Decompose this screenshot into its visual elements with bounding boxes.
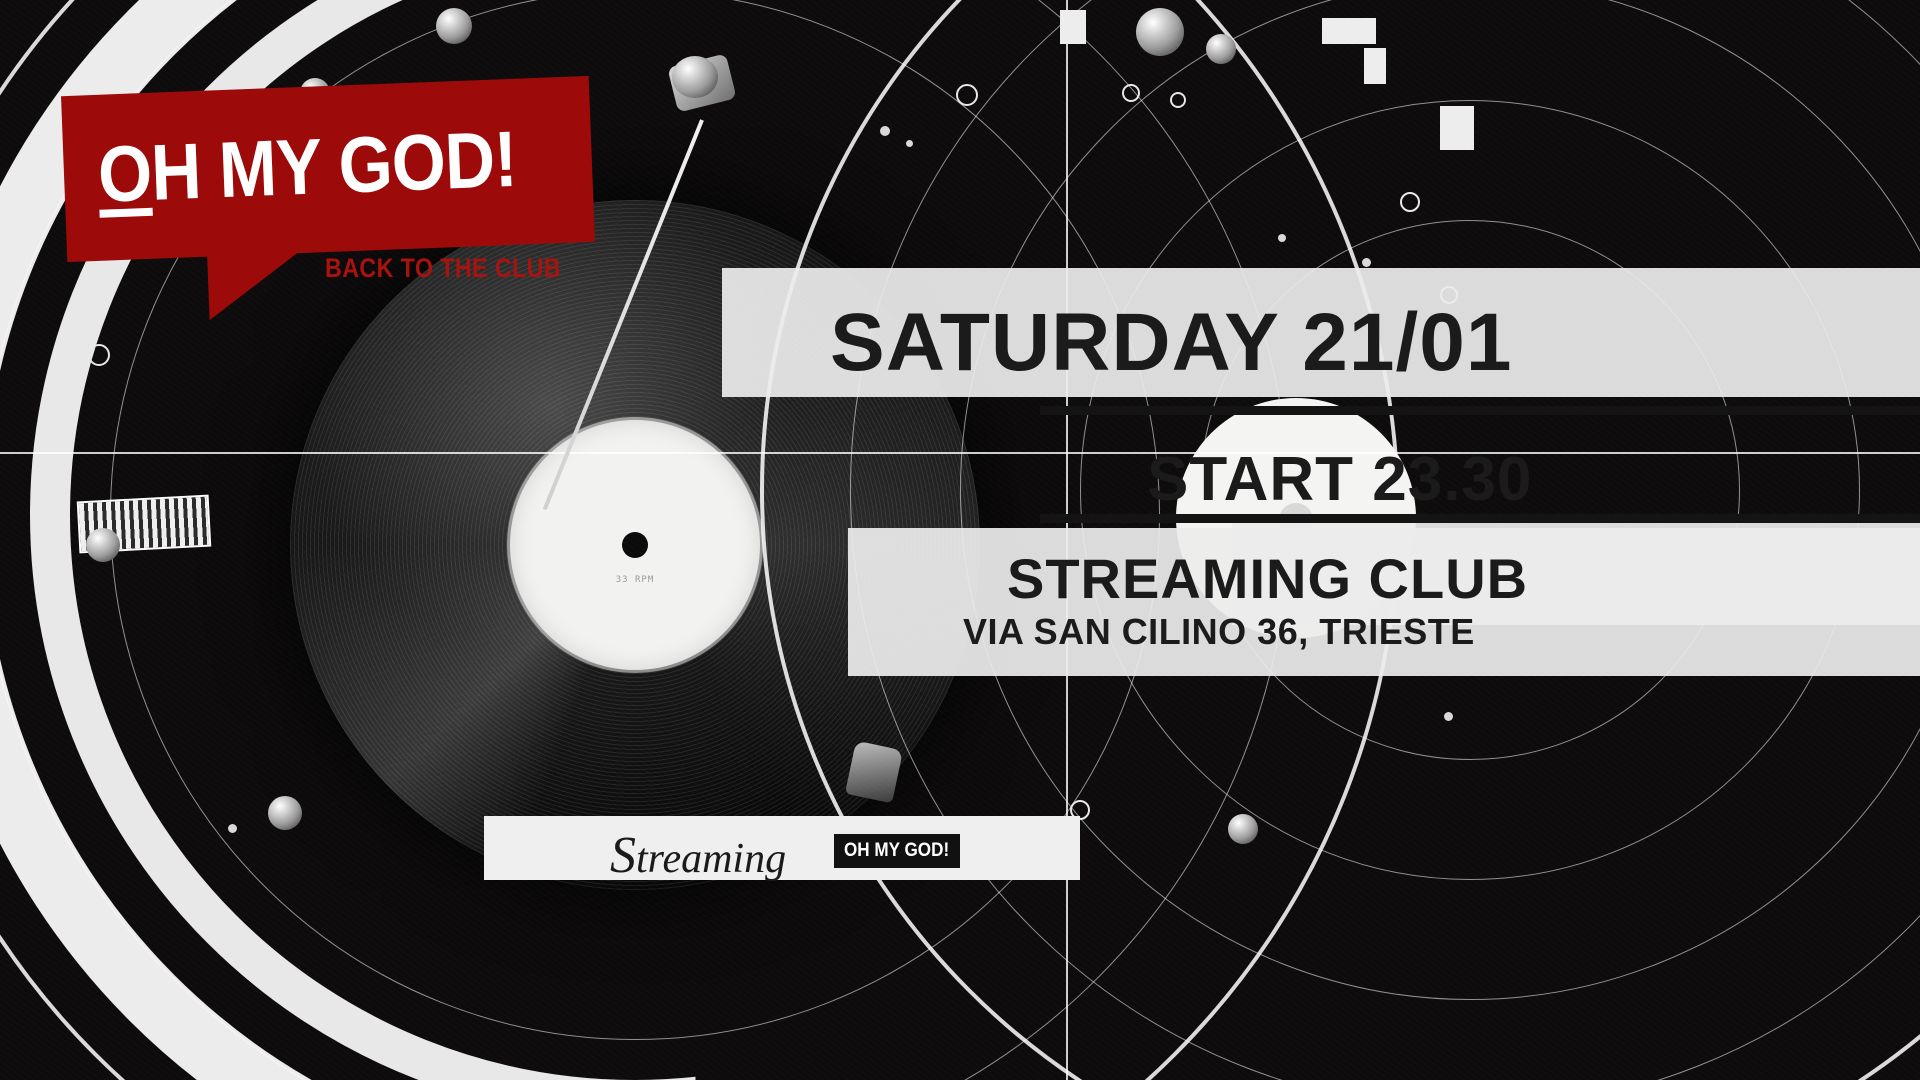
speck-1	[880, 126, 890, 136]
divider-bar-bottom	[1040, 514, 1920, 523]
small-ring-5	[1400, 192, 1420, 212]
speck-4	[1362, 258, 1371, 267]
speck-5	[228, 824, 237, 833]
knob-icon-7	[268, 796, 302, 830]
brand-logo-bubble: OH MY GOD!	[61, 76, 595, 262]
venue-name: STREAMING CLUB	[1007, 546, 1528, 611]
small-ring-1	[88, 344, 110, 366]
chip-1	[1060, 10, 1086, 44]
crosshair-horizontal	[0, 452, 1920, 454]
knob-icon-1	[436, 8, 472, 44]
event-poster: 33 RPM	[0, 0, 1920, 1080]
event-date-heading: SATURDAY 21/01	[830, 296, 1512, 390]
knob-icon-5	[1206, 34, 1236, 64]
small-ring-4	[1170, 92, 1186, 108]
brand-logo-rest: H MY GOD!	[149, 114, 518, 217]
streaming-wordmark-rest: treaming	[636, 836, 786, 882]
event-tagline: BACK TO THE CLUB	[325, 253, 561, 284]
brand-badge-text: OH MY GOD!	[844, 840, 949, 862]
small-ring-2	[956, 84, 978, 106]
knob-icon-3	[672, 56, 718, 98]
brand-logo-initial: O	[96, 128, 153, 219]
speck-3	[1278, 234, 1286, 242]
record-spindle-hole	[622, 532, 648, 558]
knob-icon-6	[86, 528, 120, 562]
event-start-time: START 23.30	[1147, 444, 1532, 515]
record-label-text: 33 RPM	[616, 575, 655, 585]
streaming-wordmark-initial: S	[610, 827, 636, 884]
speck-6	[1444, 712, 1453, 721]
knob-icon-4	[1136, 8, 1184, 56]
chip-3	[1364, 48, 1386, 84]
venue-address: VIA SAN CILINO 36, TRIESTE	[963, 611, 1475, 653]
streaming-wordmark: Streaming	[610, 826, 786, 885]
knob-icon-8	[1228, 814, 1258, 844]
chip-2	[1322, 18, 1376, 44]
small-ring-3	[1122, 84, 1140, 102]
chip-4	[1440, 106, 1474, 150]
speck-2	[906, 140, 913, 147]
brand-logo-text: OH MY GOD!	[97, 123, 518, 212]
divider-bar-top	[1040, 406, 1920, 415]
